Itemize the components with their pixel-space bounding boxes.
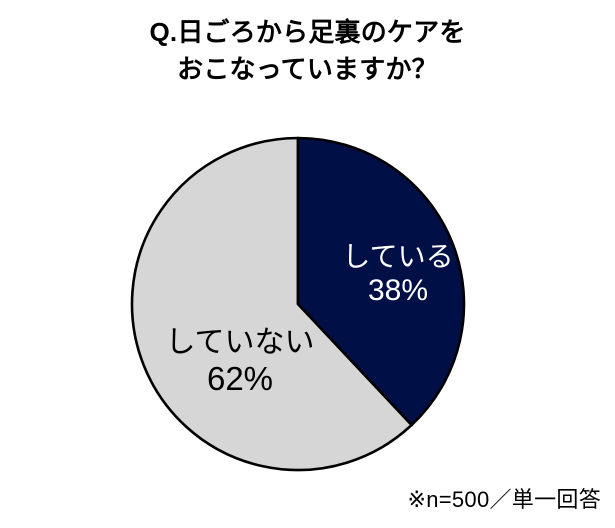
pie-label-shiteiru: している 38%: [318, 240, 478, 308]
pie-label-shiteinai-name: していない: [142, 325, 338, 360]
pie-label-shiteinai: していない 62%: [142, 325, 338, 399]
chart-footnote: ※n=500／単一回答: [407, 482, 601, 514]
title-line-2: おこなっていますか？: [0, 51, 615, 88]
chart-page: Q.日ごろから足裏のケアを おこなっていますか？ している 38% していない …: [0, 0, 615, 528]
pie-label-shiteiru-name: している: [318, 240, 478, 273]
pie-label-shiteinai-value: 62%: [142, 360, 338, 399]
pie-label-shiteiru-value: 38%: [318, 273, 478, 308]
title-line-1: Q.日ごろから足裏のケアを: [0, 14, 615, 51]
page-title: Q.日ごろから足裏のケアを おこなっていますか？: [0, 14, 615, 88]
